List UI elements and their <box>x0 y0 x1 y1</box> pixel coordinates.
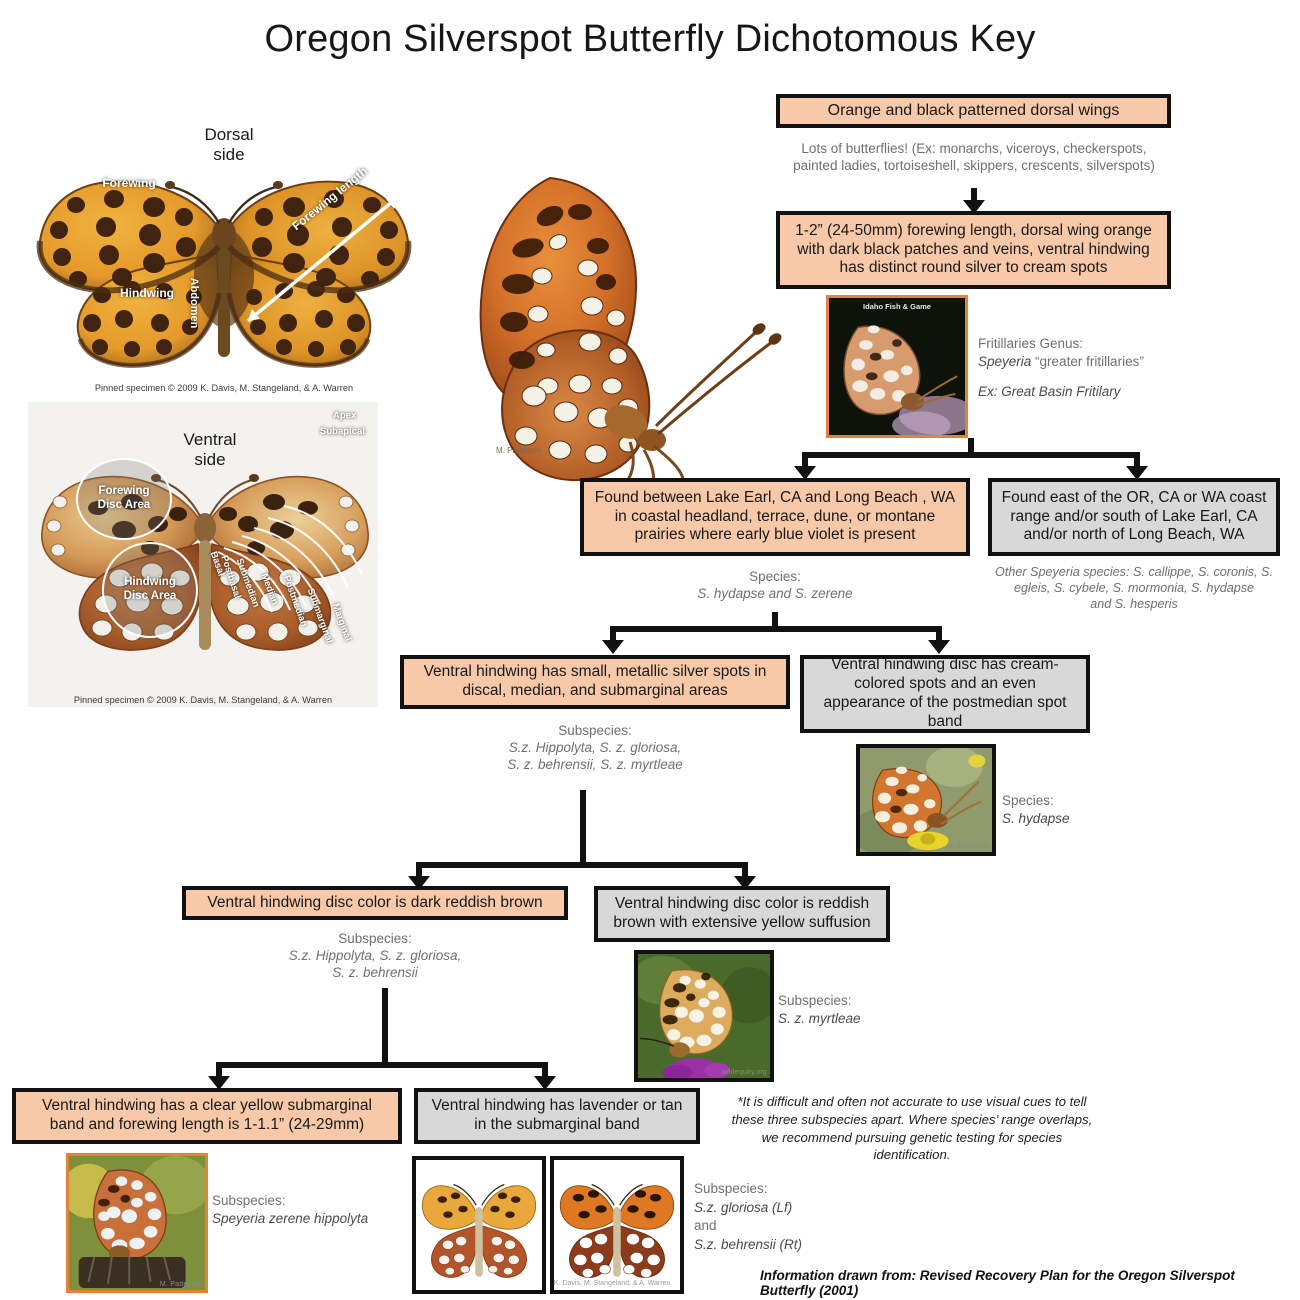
key-box-step3-right[interactable]: Found east of the OR, CA or WA coast ran… <box>988 478 1280 556</box>
lateral-butterfly-photo: M. Patterson <box>430 150 800 500</box>
arrow-to-step4-right <box>928 640 950 654</box>
forewing-disc-area-circle: Forewing Disc Area <box>76 458 172 540</box>
photo-credit-m-patterson-hippolyta: M. Patterson <box>160 1281 202 1288</box>
step5-right-subspecies-label: Subspecies: S. z. myrtleae <box>778 992 958 1028</box>
key-box-step6-left[interactable]: Ventral hindwing has a clear yellow subm… <box>12 1088 402 1144</box>
connector-step3-horizontal <box>610 626 942 632</box>
key-box-step1[interactable]: Orange and black patterned dorsal wings <box>776 94 1171 128</box>
photo-s-hydapse: M. Patterson <box>856 744 996 856</box>
arrow-to-step4-left <box>602 640 624 654</box>
ventral-side-label: Ventral side <box>160 430 260 469</box>
step4-right-species-label: Species: S. hydapse <box>1002 792 1182 828</box>
connector-step4-horizontal <box>416 862 748 868</box>
source-note: Information drawn from: Revised Recovery… <box>760 1268 1290 1298</box>
key-box-step4-right[interactable]: Ventral hindwing disc has cream-colored … <box>800 655 1090 733</box>
step1-caption: Lots of butterflies! (Ex: monarchs, vice… <box>760 140 1188 174</box>
key-box-step4-left[interactable]: Ventral hindwing has small, metallic sil… <box>400 655 790 709</box>
lateral-photo-credit: M. Patterson <box>496 446 541 455</box>
dorsal-side-label: Dorsal side <box>174 125 284 164</box>
photo-s-z-gloriosa-specimen <box>412 1156 546 1294</box>
photo-credit-idaho-fish-game: Idaho Fish & Game <box>829 302 965 311</box>
photo-great-basin-fritillary: Idaho Fish & Game <box>826 295 968 438</box>
photo-credit-m-patterson-hydapse: M. Patterson <box>947 843 989 850</box>
key-box-step3-left[interactable]: Found between Lake Earl, CA and Long Bea… <box>580 478 970 556</box>
connector-step4-stem <box>580 790 586 868</box>
step6-right-subspecies-label: Subspecies: S.z. gloriosa (Lf) and S.z. … <box>694 1180 904 1255</box>
ventral-specimen-plate: Ventral side Forewing Disc Area Hindwing… <box>28 402 378 707</box>
step2-genus-label: Fritillaries Genus: Speyeria “greater fr… <box>978 335 1208 400</box>
abdomen-label: Abdomen <box>187 273 200 333</box>
connector-step5-horizontal <box>216 1062 548 1068</box>
lateral-butterfly-illustration <box>430 150 800 500</box>
key-box-step5-right[interactable]: Ventral hindwing disc color is reddish b… <box>594 886 890 942</box>
connector-step2-horizontal <box>802 452 1140 458</box>
photo-credit-wildequity: wildequity.org <box>722 1069 767 1076</box>
dorsal-specimen-credit: Pinned specimen © 2009 K. Davis, M. Stan… <box>14 383 434 393</box>
step4-left-caption: Subspecies: S.z. Hippolyta, S. z. glorio… <box>430 722 760 773</box>
forewing-label: Forewing <box>94 177 164 191</box>
ventral-specimen-credit: Pinned specimen © 2009 K. Davis, M. Stan… <box>28 695 378 705</box>
step3-right-caption: Other Speyeria species: S. callippe, S. … <box>990 565 1278 613</box>
key-box-step5-left[interactable]: Ventral hindwing disc color is dark redd… <box>182 886 568 920</box>
apex-label: Apex <box>333 410 356 421</box>
step5-left-caption: Subspecies: S.z. Hippolyta, S. z. glorio… <box>225 930 525 981</box>
key-box-step6-right[interactable]: Ventral hindwing has lavender or tan in … <box>414 1088 700 1144</box>
dorsal-specimen-plate: Dorsal side Forewing Hindwing Abdomen Fo… <box>14 95 434 395</box>
photo-s-z-behrensii-specimen: Pinned specimens © K. Davis, M. Stangela… <box>550 1156 684 1294</box>
subapical-label: Subapical <box>320 426 365 437</box>
hindwing-label: Hindwing <box>112 287 182 301</box>
page-title: Oregon Silverspot Butterfly Dichotomous … <box>0 18 1300 61</box>
step6-left-subspecies-label: Subspecies: Speyeria zerene hippolyta <box>212 1192 422 1228</box>
photo-speyeria-zerene-hippolyta: M. Patterson <box>66 1153 208 1293</box>
dichotomous-key-poster: Oregon Silverspot Butterfly Dichotomous … <box>0 0 1300 1300</box>
genetic-testing-note: *It is difficult and often not accurate … <box>722 1093 1102 1164</box>
photo-credit-pinned-specimens: Pinned specimens © K. Davis, M. Stangela… <box>550 1280 684 1287</box>
hindwing-disc-area-circle: Hindwing Disc Area <box>102 542 198 638</box>
step3-left-caption: Species: S. hydapse and S. zerene <box>600 568 950 602</box>
photo-s-z-myrtleae: wildequity.org <box>634 950 774 1082</box>
key-box-step2[interactable]: 1-2” (24-50mm) forewing length, dorsal w… <box>776 211 1171 289</box>
connector-step5-stem <box>382 988 388 1068</box>
